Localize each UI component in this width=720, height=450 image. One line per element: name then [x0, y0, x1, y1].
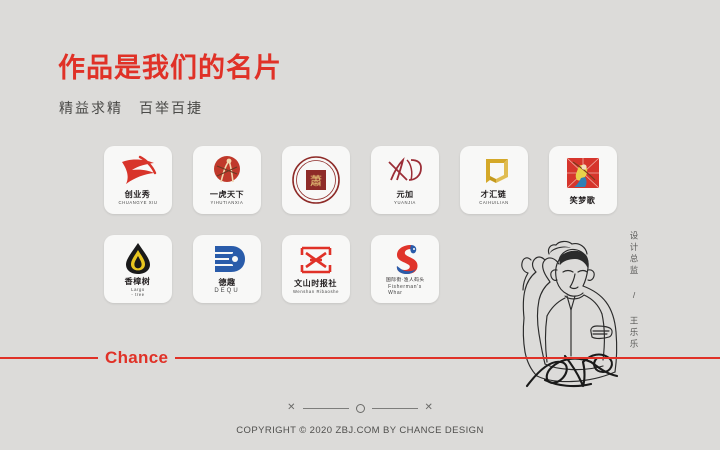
blue-d-stripes-icon [199, 242, 255, 276]
logo-name-en: CHUANGYE XIU [118, 200, 157, 205]
cross-left-icon: ✕ [287, 403, 295, 413]
logo-name-cn: 国际街·渔人码头 [386, 278, 425, 283]
page-title: 作品是我们的名片 [58, 55, 282, 82]
red-circle-rider-icon [199, 154, 255, 188]
logo-card[interactable]: 元加 YUANJIA [371, 146, 439, 214]
slide-canvas: 作品是我们的名片 精益求精 百举百捷 创业秀 CHUANGYE XIU 一虎天下… [0, 0, 720, 450]
logo-name-en: Largo - tree [131, 287, 145, 298]
logo-card[interactable]: 一虎天下 YIHUTIANXIA [193, 146, 261, 214]
logo-name-en: CAIHUILIAN [479, 200, 509, 205]
red-brush-swoosh-icon [110, 154, 166, 188]
logo-card[interactable]: 国际街·渔人码头 Fisherman's Whar [371, 235, 439, 303]
footer-ornament-divider: ✕ ✕ [0, 403, 720, 413]
logo-name-cn: 创业秀 [125, 191, 151, 199]
logo-name-cn: 德趣 [218, 278, 235, 286]
xj-monogram-icon [377, 154, 433, 188]
logo-name-cn: 一虎天下 [210, 191, 244, 199]
red-rays-figure-icon [563, 156, 603, 196]
logo-name-cn: 才汇链 [481, 191, 507, 199]
circle-icon [356, 404, 365, 413]
brand-wordmark: Chance [98, 347, 175, 369]
designer-credit: 设计总监 / 王乐乐 [627, 231, 641, 351]
logo-name-en: Fisherman's Whar [388, 284, 422, 297]
page-subtitle: 精益求精 百举百捷 [59, 98, 203, 118]
swan-s-curve-icon [377, 242, 433, 276]
logo-card[interactable]: 蕭 [282, 146, 350, 214]
logo-name-cn: 笑梦歌 [570, 196, 596, 204]
red-square-knot-icon [288, 243, 344, 277]
circular-seal-emblem-icon: 蕭 [291, 155, 341, 205]
gold-ribbon-cube-icon [466, 154, 522, 188]
logo-name-cn: 香樟树 [125, 277, 151, 285]
divider-line-right [372, 408, 418, 409]
logo-card[interactable]: 创业秀 CHUANGYE XIU [104, 146, 172, 214]
black-droplet-flame-icon [110, 241, 166, 275]
logo-name-en: YUANJIA [394, 200, 416, 205]
logo-name-en: YIHUTIANXIA [211, 200, 244, 205]
logo-card[interactable]: 笑梦歌 [549, 146, 617, 214]
logo-name-en: DEQU [214, 288, 239, 296]
logo-card[interactable]: 香樟树 Largo - tree [104, 235, 172, 303]
logo-name-cn: 元加 [396, 191, 413, 199]
copyright-text: COPYRIGHT © 2020 ZBJ.COM BY CHANCE DESIG… [0, 425, 720, 436]
logo-card[interactable]: 才汇链 CAIHUILIAN [460, 146, 528, 214]
logo-name-cn: 文山时报社 [295, 280, 338, 288]
logo-name-en: Wenshan Ribaoshe [293, 289, 339, 294]
logo-card[interactable]: 文山时报社 Wenshan Ribaoshe [282, 235, 350, 303]
designer-portrait-illustration [487, 236, 637, 396]
svg-text:蕭: 蕭 [310, 174, 322, 188]
divider-line-left [303, 408, 349, 409]
logo-card[interactable]: 德趣 DEQU [193, 235, 261, 303]
cross-right-icon: ✕ [425, 403, 433, 413]
